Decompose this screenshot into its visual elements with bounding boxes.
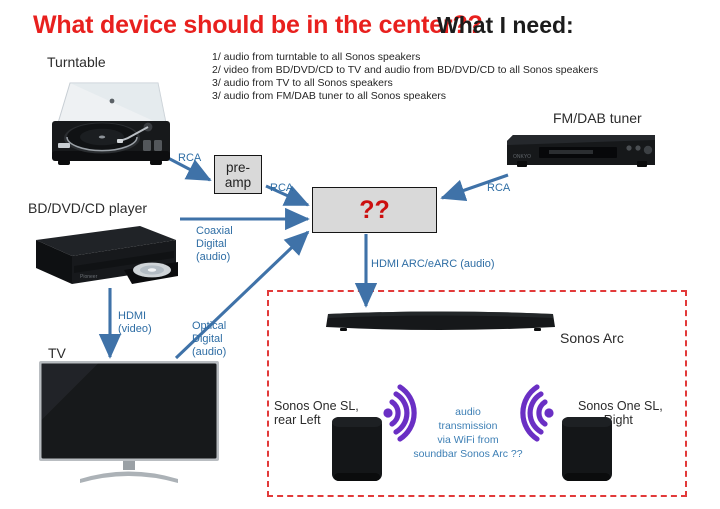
label-rca-turntable: RCA [178, 152, 201, 165]
sonos-one-sl-right-image [560, 415, 614, 483]
caption-tv: TV [48, 345, 66, 361]
label-line: Digital [196, 238, 233, 251]
label-line: Coaxial [196, 225, 233, 238]
label-line: Optical [192, 320, 226, 333]
note-line: transmission [408, 419, 528, 433]
wifi-transmission-note: audio transmission via WiFi from soundba… [408, 405, 528, 461]
label-line: (audio) [192, 346, 226, 359]
caption-soundbar: Sonos Arc [560, 330, 624, 346]
label-hdmi-video: HDMI (video) [118, 310, 152, 336]
caption-line: Sonos One SL, [274, 399, 359, 413]
note-line: soundbar Sonos Arc ?? [408, 447, 528, 461]
center-unknown-label: ?? [359, 198, 390, 223]
label-coaxial-digital: Coaxial Digital (audio) [196, 225, 233, 264]
label-line: Digital [192, 333, 226, 346]
label-line: (video) [118, 323, 152, 336]
caption-tuner: FM/DAB tuner [553, 110, 642, 126]
note-line: via WiFi from [408, 433, 528, 447]
bd-dvd-cd-player-image: Pioneer [28, 218, 178, 296]
label-optical-digital: Optical Digital (audio) [192, 320, 226, 359]
fm-dab-tuner-image: ONKYO [505, 131, 658, 175]
label-line: (audio) [196, 251, 233, 264]
label-rca-preamp: RCA [270, 182, 293, 195]
sonos-arc-soundbar-image [322, 310, 559, 334]
sonos-one-sl-left-image [330, 415, 384, 483]
svg-text:ONKYO: ONKYO [513, 154, 531, 160]
caption-bd-player: BD/DVD/CD player [28, 200, 147, 216]
preamp-label-line: amp [225, 175, 251, 190]
diagram-canvas: What device should be in the center?? Wh… [0, 0, 720, 509]
label-hdmi-arc: HDMI ARC/eARC (audio) [371, 258, 494, 271]
caption-line: Sonos One SL, [578, 399, 663, 413]
center-device-unknown-box[interactable]: ?? [312, 187, 437, 233]
svg-text:Pioneer: Pioneer [80, 274, 98, 280]
preamp-box[interactable]: pre- amp [214, 155, 262, 194]
caption-turntable: Turntable [47, 54, 106, 70]
tv-image [38, 360, 220, 485]
note-line: audio [408, 405, 528, 419]
label-rca-tuner: RCA [487, 182, 510, 195]
label-line: HDMI [118, 310, 152, 323]
turntable-image [40, 77, 180, 177]
preamp-label-line: pre- [225, 160, 251, 175]
